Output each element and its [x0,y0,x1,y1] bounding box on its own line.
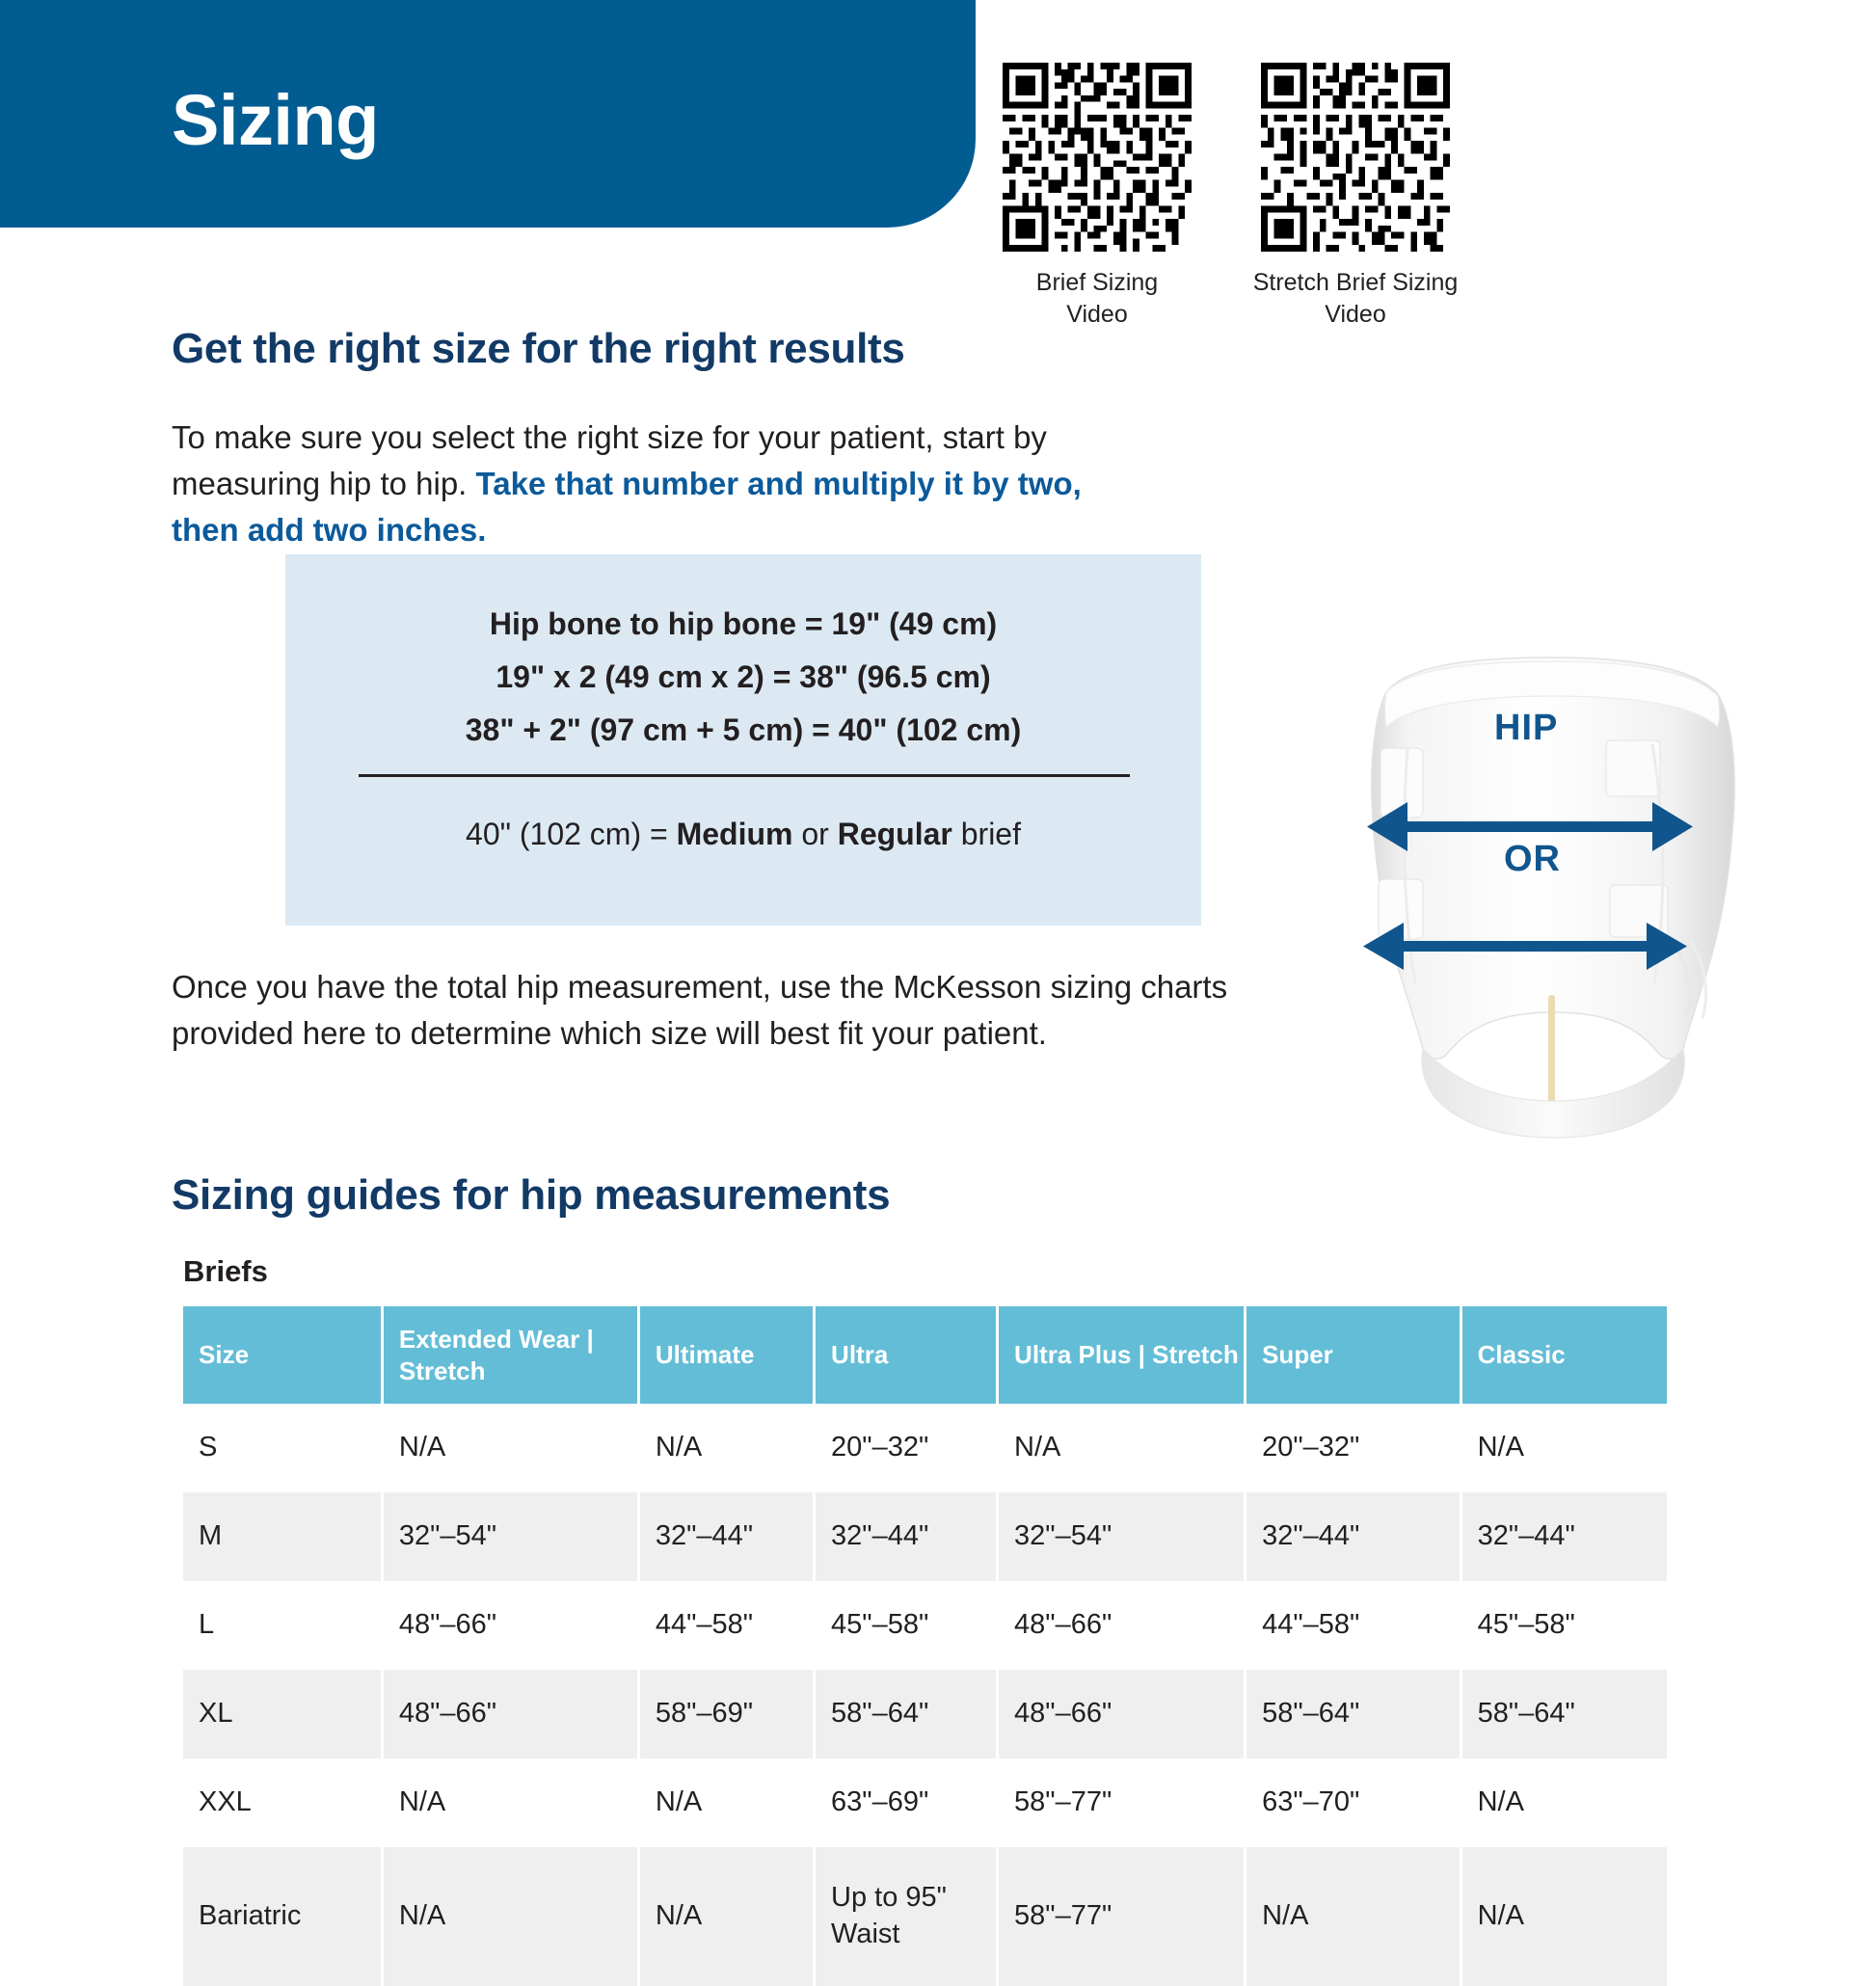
cell-super: 20"–32" [1246,1404,1462,1492]
cell-classic: 45"–58" [1462,1581,1667,1670]
cell-extended-wear: 48"–66" [384,1581,640,1670]
cell-ultra: Up to 95" Waist [816,1847,999,1986]
column-header-ultra-plus-stretch: Ultra Plus | Stretch [999,1306,1246,1404]
section-heading-get-right-size: Get the right size for the right results [172,325,905,373]
section-heading-sizing-guides: Sizing guides for hip measurements [172,1171,890,1220]
intro-paragraph: To make sure you select the right size f… [172,415,1145,554]
followup-paragraph: Once you have the total hip measurement,… [172,964,1261,1057]
cell-super: 32"–44" [1246,1492,1462,1581]
table-row: XXL N/A N/A 63"–69" 58"–77" 63"–70" N/A [183,1758,1667,1847]
briefs-sizing-table: Size Extended Wear | Stretch Ultimate Ul… [183,1306,1667,1986]
cell-extended-wear: N/A [384,1404,640,1492]
cell-classic: 58"–64" [1462,1670,1667,1758]
qr-caption-brief: Brief Sizing Video [1003,267,1192,330]
table-row: XL 48"–66" 58"–69" 58"–64" 48"–66" 58"–6… [183,1670,1667,1758]
cell-ultra-plus: 58"–77" [999,1758,1246,1847]
cell-ultra: 58"–64" [816,1670,999,1758]
calc-result-suffix: brief [952,817,1021,851]
cell-ultra: 63"–69" [816,1758,999,1847]
column-header-extended-wear-stretch: Extended Wear | Stretch [384,1306,640,1404]
qr-block-stretch-brief-sizing-video[interactable]: Stretch Brief Sizing Video [1261,63,1450,330]
table-row: L 48"–66" 44"–58" 45"–58" 48"–66" 44"–58… [183,1581,1667,1670]
cell-ultra-plus: 48"–66" [999,1670,1246,1758]
brief-product-illustration: HIP OR [1348,656,1762,1157]
cell-extended-wear: 48"–66" [384,1670,640,1758]
cell-size: M [183,1492,384,1581]
cell-ultimate: N/A [640,1847,816,1986]
page-title: Sizing [172,85,379,156]
column-header-size: Size [183,1306,384,1404]
cell-size: XXL [183,1758,384,1847]
table-header-row: Size Extended Wear | Stretch Ultimate Ul… [183,1306,1667,1404]
qr-code-icon[interactable] [1003,63,1192,252]
table-caption-briefs: Briefs [183,1254,268,1289]
cell-ultimate: 32"–44" [640,1492,816,1581]
cell-classic: N/A [1462,1758,1667,1847]
cell-super: 58"–64" [1246,1670,1462,1758]
cell-ultimate: N/A [640,1404,816,1492]
calc-result-mid: or [792,817,837,851]
cell-ultra-plus: N/A [999,1404,1246,1492]
cell-classic: 32"–44" [1462,1492,1667,1581]
cell-extended-wear: 32"–54" [384,1492,640,1581]
calc-line-multiply: 19" x 2 (49 cm x 2) = 38" (96.5 cm) [285,661,1201,692]
calc-result-size-regular: Regular [838,817,952,851]
cell-size: L [183,1581,384,1670]
cell-super: 44"–58" [1246,1581,1462,1670]
calc-divider [359,774,1130,777]
column-header-classic: Classic [1462,1306,1667,1404]
cell-ultra-plus: 58"–77" [999,1847,1246,1986]
cell-super: N/A [1246,1847,1462,1986]
cell-ultra: 32"–44" [816,1492,999,1581]
cell-ultimate: N/A [640,1758,816,1847]
qr-block-brief-sizing-video[interactable]: Brief Sizing Video [1003,63,1192,330]
cell-size: S [183,1404,384,1492]
table-row: M 32"–54" 32"–44" 32"–44" 32"–54" 32"–44… [183,1492,1667,1581]
cell-ultimate: 58"–69" [640,1670,816,1758]
cell-extended-wear: N/A [384,1758,640,1847]
calc-line-add-two: 38" + 2" (97 cm + 5 cm) = 40" (102 cm) [285,714,1201,745]
calc-result-prefix: 40" (102 cm) = [466,817,677,851]
calculation-example-box: Hip bone to hip bone = 19" (49 cm) 19" x… [285,554,1201,926]
cell-super: 63"–70" [1246,1758,1462,1847]
cell-ultra-plus: 48"–66" [999,1581,1246,1670]
table-row: S N/A N/A 20"–32" N/A 20"–32" N/A [183,1404,1667,1492]
column-header-ultimate: Ultimate [640,1306,816,1404]
calc-line-hip-bone: Hip bone to hip bone = 19" (49 cm) [285,608,1201,639]
table-row: Bariatric N/A N/A Up to 95" Waist 58"–77… [183,1847,1667,1986]
cell-classic: N/A [1462,1404,1667,1492]
label-or: OR [1504,839,1561,880]
cell-extended-wear: N/A [384,1847,640,1986]
cell-ultra: 20"–32" [816,1404,999,1492]
qr-caption-stretch: Stretch Brief Sizing Video [1235,267,1476,330]
cell-ultra-plus: 32"–54" [999,1492,1246,1581]
column-header-super: Super [1246,1306,1462,1404]
cell-classic: N/A [1462,1847,1667,1986]
calc-result-size-medium: Medium [677,817,793,851]
cell-size: Bariatric [183,1847,384,1986]
cell-ultra: 45"–58" [816,1581,999,1670]
qr-code-icon[interactable] [1261,63,1450,252]
cell-ultimate: 44"–58" [640,1581,816,1670]
header-banner [0,0,976,228]
cell-size: XL [183,1670,384,1758]
column-header-ultra: Ultra [816,1306,999,1404]
label-hip: HIP [1494,708,1558,749]
calc-result: 40" (102 cm) = Medium or Regular brief [285,817,1201,852]
